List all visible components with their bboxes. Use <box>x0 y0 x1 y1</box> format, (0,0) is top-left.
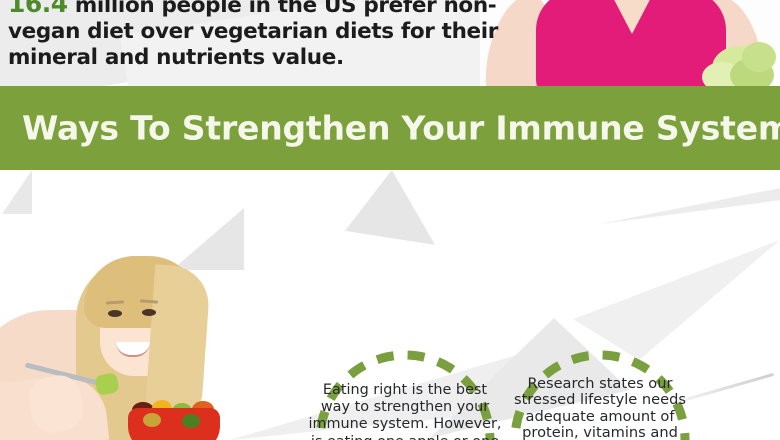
photo-woman-in-pink-shirt <box>480 0 780 86</box>
bubble-1-text: Eating right is the best way to strength… <box>307 382 503 440</box>
eye-shape <box>108 310 122 317</box>
decorative-triangle <box>560 240 780 360</box>
stat-sentence: million people in the US prefer non-vega… <box>8 0 498 70</box>
top-stat-strip: 16.4 million people in the US prefer non… <box>0 0 780 86</box>
hair-sweep-shape <box>145 264 211 418</box>
bubble-circle-2: Research states our stressed lifestyle n… <box>508 348 692 440</box>
decorative-triangle <box>345 170 435 248</box>
banner-title: Ways To Strengthen Your Immune System <box>22 109 780 148</box>
salad-piece <box>182 414 200 428</box>
photo-woman-eating-salad <box>0 170 250 440</box>
top-stat-text: 16.4 million people in the US prefer non… <box>8 0 508 71</box>
bubble-2-text: Research states our stressed lifestyle n… <box>500 376 700 440</box>
eye-shape <box>142 309 156 316</box>
bubble-circle-1: Eating right is the best way to strength… <box>313 348 497 440</box>
salad-piece <box>143 413 161 427</box>
title-banner: Ways To Strengthen Your Immune System <box>0 86 780 170</box>
red-salad-bowl <box>128 408 220 440</box>
stat-number: 16.4 <box>8 0 68 18</box>
lettuce-shape <box>742 42 776 72</box>
infographic-page: 16.4 million people in the US prefer non… <box>0 0 780 440</box>
main-body: Eating right is the best way to strength… <box>0 170 780 440</box>
decorative-triangle <box>600 188 780 224</box>
